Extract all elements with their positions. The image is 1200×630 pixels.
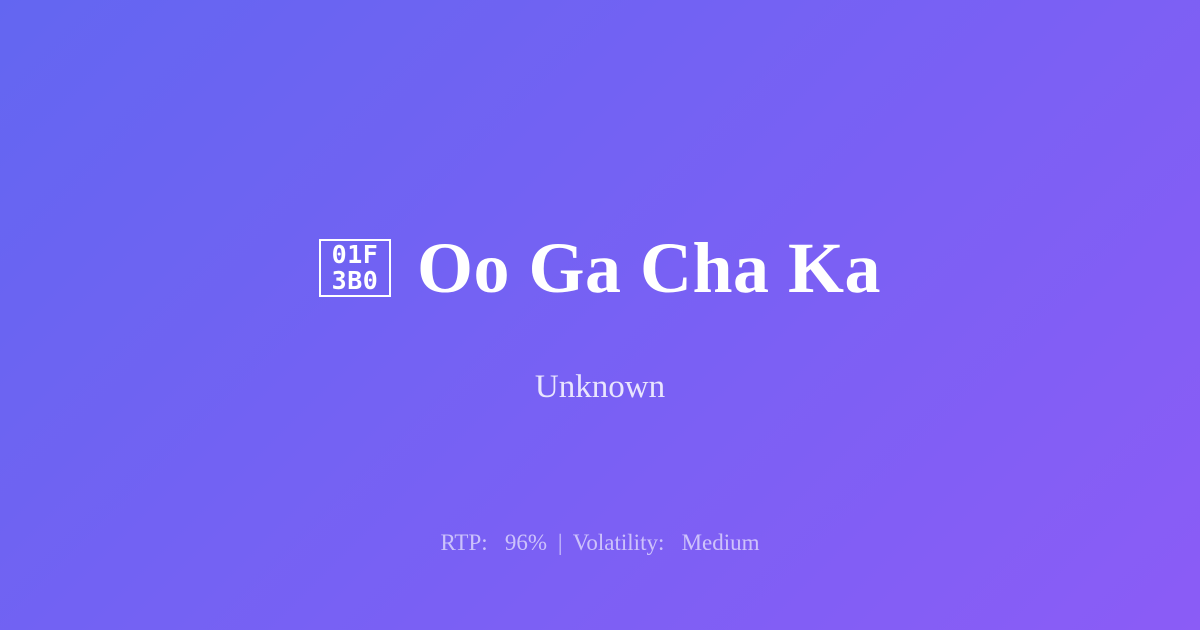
slot-machine-icon: 01F 3B0 <box>319 239 391 297</box>
volatility-value: Medium <box>682 530 760 555</box>
tofu-codepoint-top: 01F <box>332 242 379 268</box>
tofu-codepoint-bottom: 3B0 <box>332 268 379 294</box>
rtp-value: 96% <box>505 530 547 555</box>
og-preview-card: 01F 3B0 Oo Ga Cha Ka Unknown RTP: 96% | … <box>0 0 1200 630</box>
page-title: Oo Ga Cha Ka <box>417 232 881 304</box>
stats-separator: | <box>553 530 568 555</box>
game-provider-subtitle: Unknown <box>0 366 1200 408</box>
game-title-row: 01F 3B0 Oo Ga Cha Ka <box>0 232 1200 304</box>
volatility-label: Volatility: <box>573 530 665 555</box>
game-stats-line: RTP: 96% | Volatility: Medium <box>0 528 1200 558</box>
rtp-label: RTP: <box>440 530 487 555</box>
